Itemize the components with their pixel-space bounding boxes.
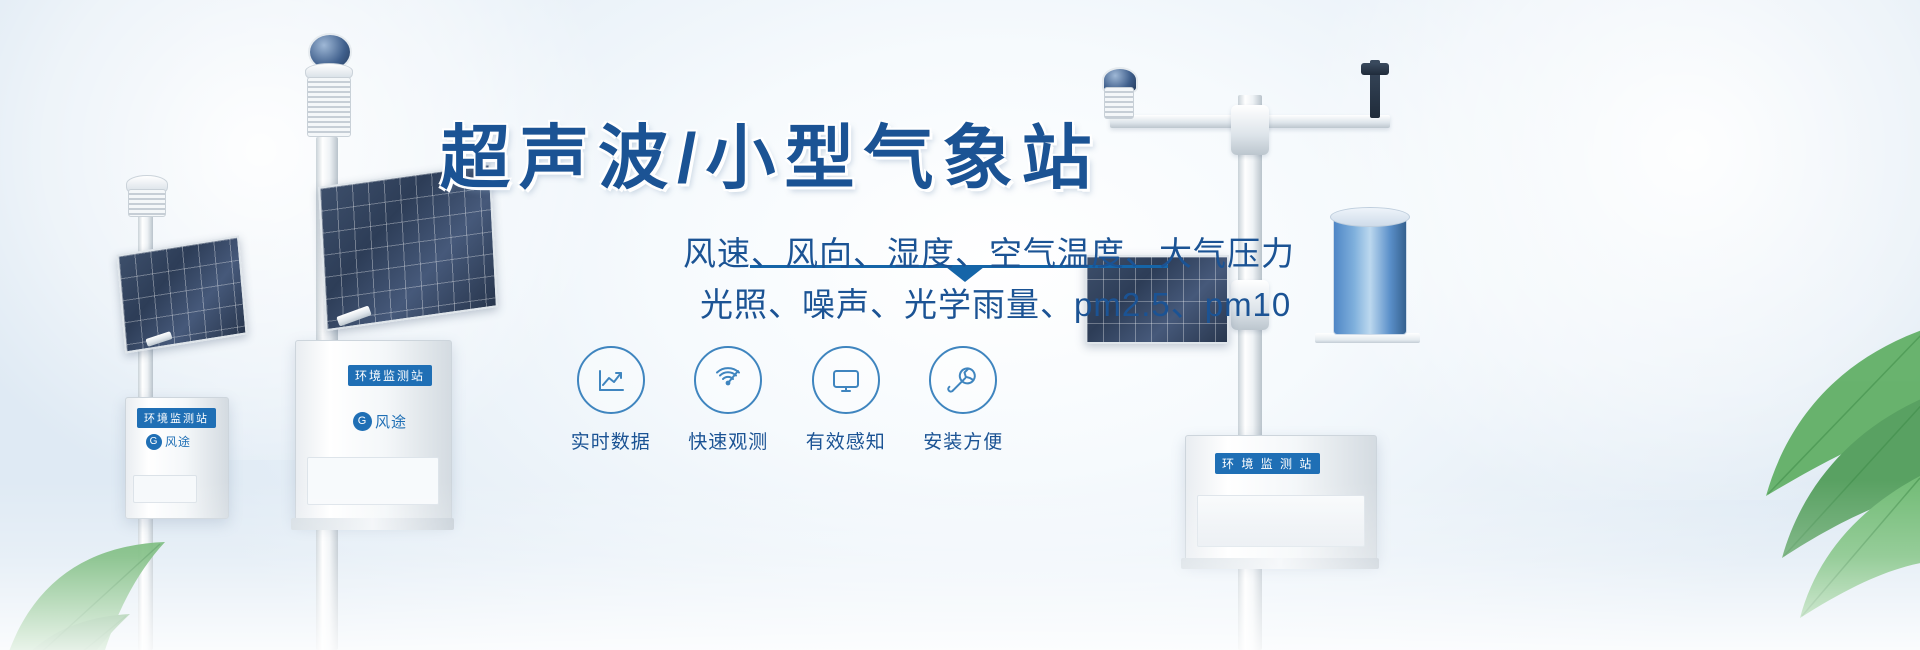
feature-list: 实时数据 快速观测 — [552, 346, 1022, 456]
page-title: 超声波/小型气象站 — [440, 112, 1130, 204]
feature-item-realtime-data[interactable]: 实时数据 — [552, 346, 670, 456]
subtitle-line-2: 光照、噪声、光学雨量、pm2.5、pm10 — [700, 283, 1291, 327]
feature-label: 安装方便 — [923, 427, 1003, 454]
banner-text-block: 超声波/小型气象站 风速、风向、湿度、空气温度、大气压力 光照、噪声、光学雨量、… — [0, 0, 1920, 650]
line-chart-icon — [577, 346, 645, 414]
wrench-icon — [929, 346, 997, 414]
feature-label: 实时数据 — [571, 427, 651, 454]
feature-item-effective-sensing[interactable]: 有效感知 — [787, 346, 905, 456]
radar-signal-icon — [694, 346, 762, 414]
feature-item-easy-install[interactable]: 安装方便 — [905, 346, 1023, 456]
feature-label: 有效感知 — [806, 427, 886, 454]
monitor-icon — [812, 346, 880, 414]
subtitle-line-1: 风速、风向、湿度、空气温度、大气压力 — [683, 232, 1295, 276]
feature-item-fast-observation[interactable]: 快速观测 — [670, 346, 788, 456]
feature-label: 快速观测 — [688, 427, 768, 454]
product-banner: 环境监测站 G 风途 环境监测站 G 风途 — [0, 0, 1920, 650]
